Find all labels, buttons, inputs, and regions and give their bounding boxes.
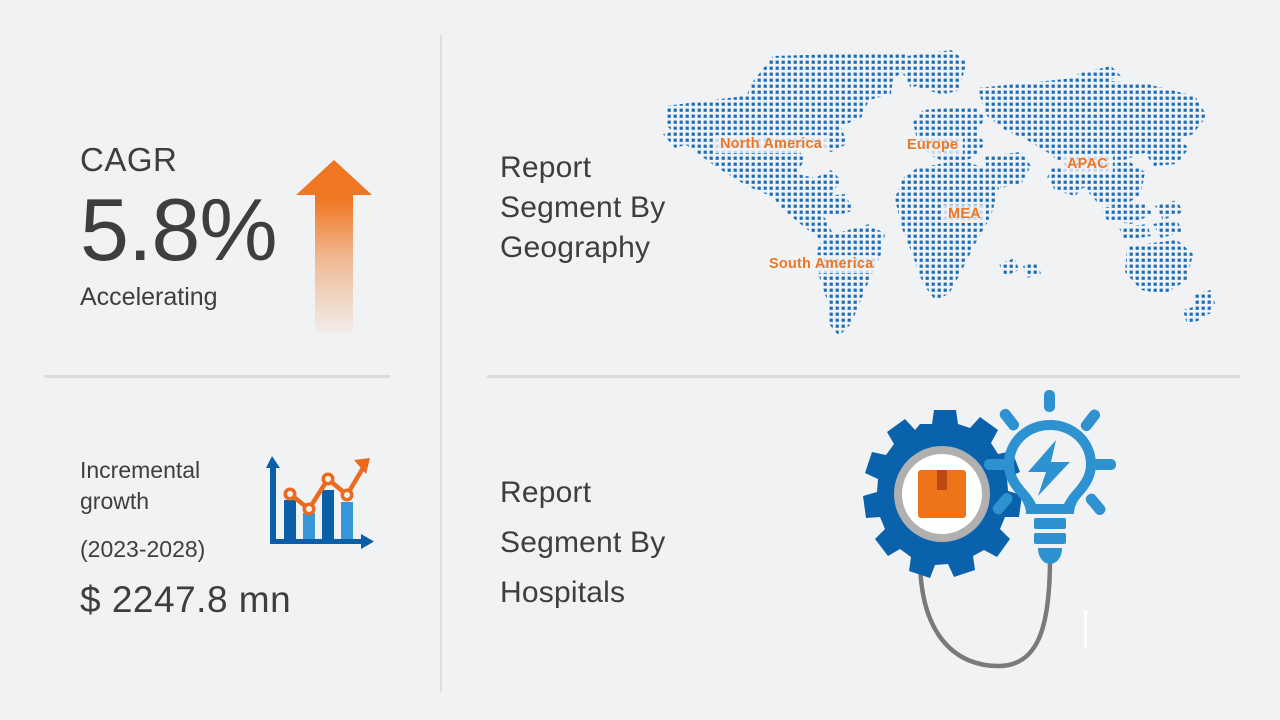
cagr-label: CAGR [80,140,277,180]
incremental-growth-label-line2: growth [80,486,270,517]
cagr-block: CAGR 5.8% Accelerating [80,140,277,312]
cagr-trend-label: Accelerating [80,282,277,312]
arrow-up-icon [294,158,374,333]
incremental-growth-label-line1: Incremental [80,455,270,486]
right-horizontal-divider [487,375,1240,378]
incremental-growth-block: Incremental growth (2023-2028) $ 2247.8 … [80,455,291,622]
segment-title-line2: Segment By [500,518,665,568]
dotted-world-map-icon [655,48,1215,343]
gear-shape [863,410,1022,578]
decorative-tick-mark [1084,610,1087,648]
segment-title-line1: Report [500,468,665,518]
map-region-label-apac[interactable]: APAC [1062,155,1113,173]
bar-chart-growth-icon [262,452,377,557]
geography-title-line2: Segment By [500,188,665,228]
segment-title: Report Segment By Hospitals [500,468,665,618]
left-horizontal-divider [44,375,390,378]
map-region-label-north-america[interactable]: North America [715,135,827,153]
geography-title-line1: Report [500,148,665,188]
infographic-canvas: CAGR 5.8% Accelerating Incremental growt… [0,0,1280,720]
map-region-label-mea[interactable]: MEA [943,205,986,223]
geography-title-line3: Geography [500,228,665,268]
map-region-label-europe[interactable]: Europe [902,136,963,154]
incremental-growth-period: (2023-2028) [80,534,291,565]
vertical-divider [440,35,442,692]
cagr-value: 5.8% [80,182,277,278]
segment-title-line3: Hospitals [500,568,665,618]
map-region-label-south-america[interactable]: South America [764,255,878,273]
geography-title: Report Segment By Geography [500,148,665,268]
incremental-growth-value: $ 2247.8 mn [80,577,291,622]
